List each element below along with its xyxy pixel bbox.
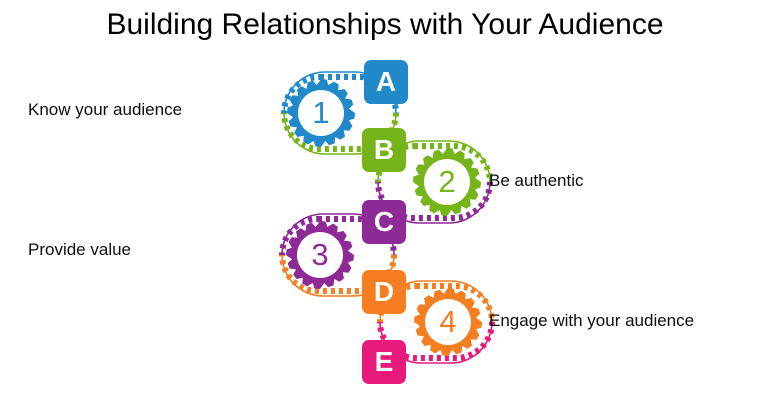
gear-4-number: 4 [439,304,456,339]
letter-badge-c[interactable]: C [362,200,406,244]
letter-badge-d[interactable]: D [362,270,406,314]
caption-know-your-audience: Know your audience [28,100,182,120]
caption-be-authentic: Be authentic [489,171,584,191]
letter-badge-b[interactable]: B [362,128,406,172]
letter-badge-e[interactable]: E [362,340,406,384]
slide-canvas: Building Relationships with Your Audienc… [0,0,770,400]
gear-3[interactable]: 3 [286,221,354,289]
gear-3-number: 3 [311,237,328,272]
gear-4[interactable]: 4 [414,288,482,356]
gear-1[interactable]: 1 [287,79,355,147]
caption-engage-with-your-audience: Engage with your audience [489,311,694,331]
gear-2-number: 2 [438,164,455,199]
letter-badge-a[interactable]: A [364,60,408,104]
gear-2[interactable]: 2 [413,148,481,216]
gear-1-number: 1 [312,95,329,130]
caption-provide-value: Provide value [28,240,131,260]
